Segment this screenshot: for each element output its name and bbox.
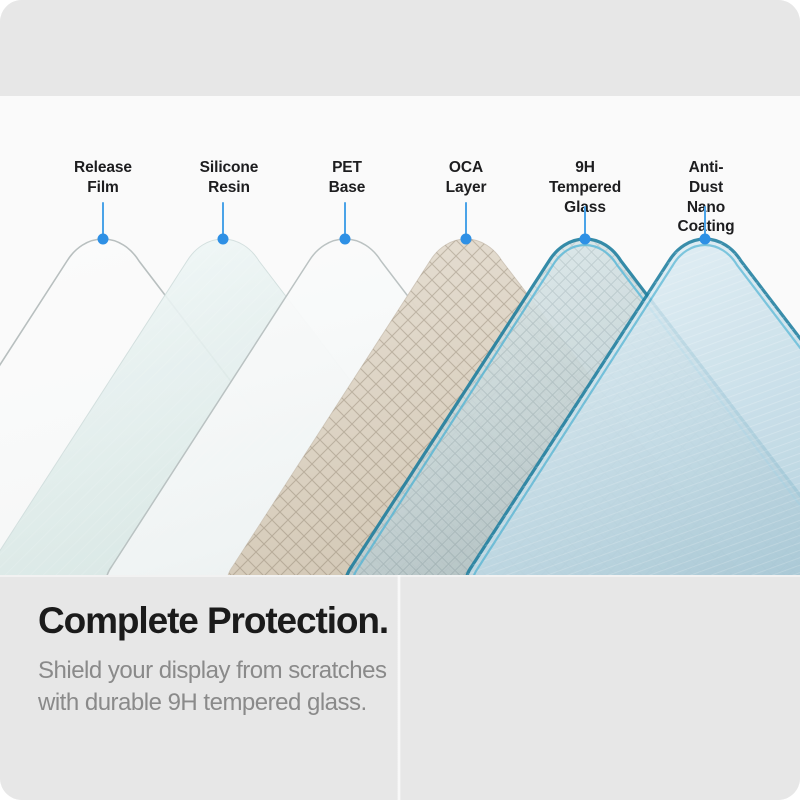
headline: Complete Protection.: [38, 600, 638, 641]
callout-dot-silicone-resin[interactable]: [218, 234, 229, 245]
callout-label-anti-dust-nano-coating: Anti-Dust Nano Coating: [678, 158, 735, 237]
callout-label-pet-base: PET Base: [329, 158, 366, 198]
callout-dot-pet-base[interactable]: [340, 234, 351, 245]
top-background-band: [0, 0, 800, 96]
callout-dot-oca-layer[interactable]: [461, 234, 472, 245]
subheadline: Shield your display from scratches with …: [38, 655, 638, 718]
callout-label-release-film: Release Film: [74, 158, 132, 198]
callout-label-silicone-resin: Silicone Resin: [200, 158, 259, 198]
product-feature-card: Release Film Silicone Resin PET Base OCA…: [0, 0, 800, 800]
callout-dot-release-film[interactable]: [98, 234, 109, 245]
marketing-copy-block: Complete Protection. Shield your display…: [38, 600, 638, 719]
callout-dot-anti-dust-nano-coating[interactable]: [700, 234, 711, 245]
callout-label-oca-layer: OCA Layer: [446, 158, 487, 198]
callout-dot-9h-tempered-glass[interactable]: [580, 234, 591, 245]
